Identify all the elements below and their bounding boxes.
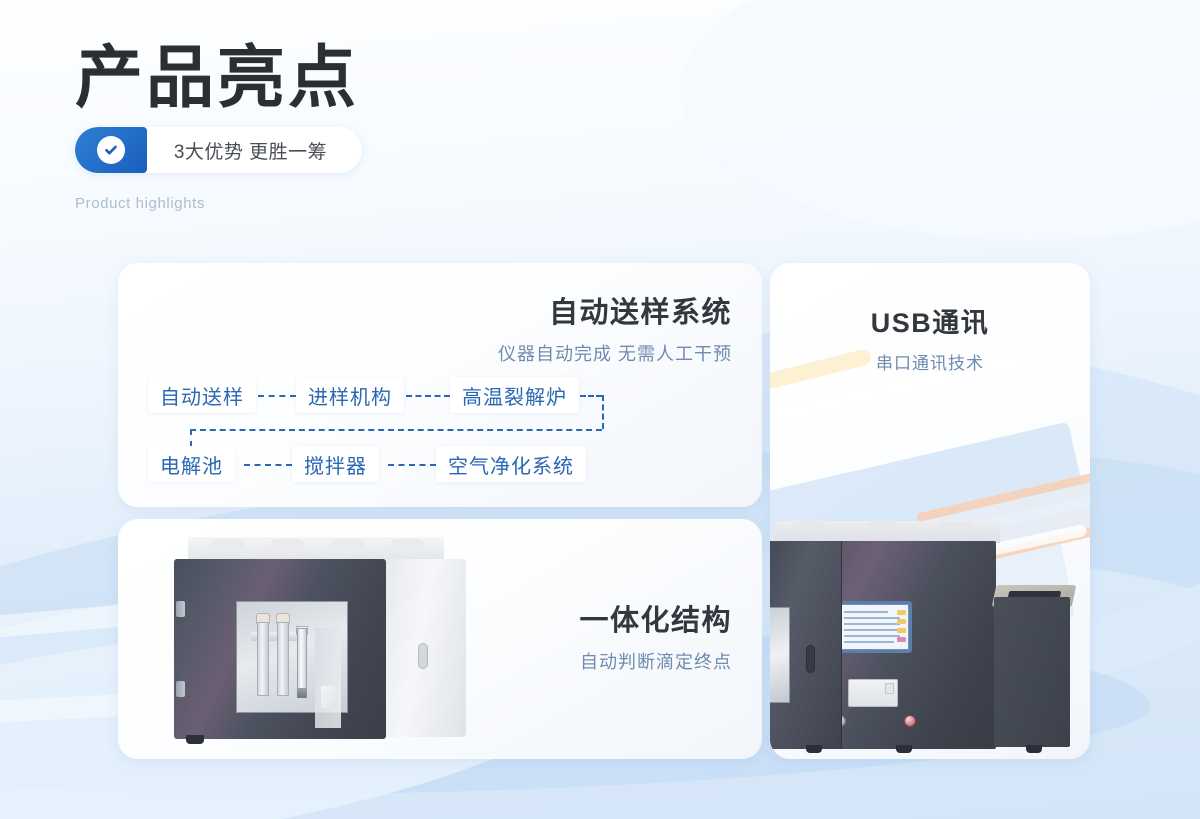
- instrument-knob-2: [270, 539, 304, 548]
- background-wave-top-right: [680, 0, 1200, 240]
- flow-connector-6: [190, 429, 192, 447]
- card-auto-sampler: 自动送样系统 仪器自动完成 无需人工干预 自动送样 进样机构 高温裂解炉 电解池…: [118, 263, 762, 507]
- instrument-hinge-bottom: [176, 681, 185, 697]
- flow-tag-injection: 进样机构: [296, 377, 404, 413]
- usb-title: USB通讯: [770, 301, 1090, 340]
- flow-connector-7: [244, 464, 292, 466]
- flow-connector-3: [580, 395, 602, 397]
- card-usb-communication: USB通讯 串口通讯技术: [770, 263, 1090, 759]
- usb-heading: USB通讯 串口通讯技术: [770, 301, 1090, 374]
- instrument-hinge-top: [176, 601, 185, 617]
- instrument-knob-4: [390, 539, 424, 548]
- check-circle-icon: [97, 136, 125, 164]
- flow-connector-2: [406, 395, 450, 397]
- lcd-data-row: [844, 641, 894, 643]
- auto-sampler-title: 自动送样系统: [498, 289, 732, 331]
- lcd-data-row: [844, 617, 900, 619]
- flow-connector-8: [388, 464, 436, 466]
- process-flow-diagram: 自动送样 进样机构 高温裂解炉 电解池 搅拌器 空气净化系统: [148, 377, 732, 482]
- panel-left-section: [770, 541, 842, 749]
- lcd-data-row: [844, 629, 900, 631]
- lcd-button-2: [897, 619, 906, 624]
- panel-foot-3: [1026, 745, 1042, 753]
- page-subtitle-english: Product highlights: [75, 195, 362, 212]
- panel-left-window: [770, 607, 790, 703]
- auto-sampler-subtitle: 仪器自动完成 无需人工干预: [498, 340, 732, 366]
- auto-sampler-heading: 自动送样系统 仪器自动完成 无需人工干预: [498, 289, 732, 366]
- integrated-subtitle: 自动判断滴定终点: [579, 648, 732, 674]
- panel-knob-1: [792, 522, 824, 530]
- card-integrated-structure: 一体化结构 自动判断滴定终点: [118, 519, 762, 759]
- panel-button-red: [904, 715, 916, 727]
- integrated-title: 一体化结构: [579, 597, 732, 639]
- printer-panel: [848, 679, 898, 707]
- badge-icon-container: [75, 127, 147, 173]
- instrument-main-body: [174, 559, 386, 739]
- lcd-display: [839, 604, 909, 650]
- sampler-side-module: [994, 597, 1070, 747]
- inner-panel: [315, 628, 341, 728]
- syringe-1: [257, 622, 269, 696]
- flowmeter-valve: [297, 688, 307, 698]
- flow-connector-1: [258, 395, 296, 397]
- lcd-data-row: [844, 635, 900, 637]
- page-header: 产品亮点 3大优势 更胜一筹 Product highlights: [75, 42, 362, 212]
- panel-foot-1: [806, 745, 822, 753]
- sample-cup: [321, 686, 337, 708]
- flow-tag-stirrer: 搅拌器: [292, 446, 379, 482]
- flow-tag-auto-feed: 自动送样: [148, 377, 256, 413]
- page-title: 产品亮点: [75, 42, 362, 115]
- flow-tag-air-purifier: 空气净化系统: [436, 446, 586, 482]
- lcd-touchscreen: [836, 601, 912, 653]
- lcd-button-1: [897, 610, 906, 615]
- lcd-data-row: [844, 611, 888, 613]
- flow-tag-pyrolysis: 高温裂解炉: [450, 377, 579, 413]
- usb-subtitle: 串口通讯技术: [770, 349, 1090, 374]
- flowmeter-tube: [297, 628, 307, 690]
- flow-connector-5: [190, 429, 602, 431]
- instrument-control-panel-photo: [770, 521, 1090, 759]
- instrument-door-handle: [418, 643, 428, 669]
- instrument-knob-3: [330, 539, 364, 548]
- panel-knob-3: [940, 522, 972, 530]
- instrument-foot-left: [186, 735, 204, 744]
- instrument-viewing-window: [236, 601, 348, 713]
- lcd-button-4: [897, 637, 906, 642]
- flow-tag-electrolysis: 电解池: [148, 446, 235, 482]
- lcd-data-row: [844, 623, 900, 625]
- lcd-button-3: [897, 628, 906, 633]
- badge-label: 3大优势 更胜一筹: [147, 137, 362, 164]
- flow-connector-4: [602, 395, 604, 429]
- panel-knob-2: [866, 522, 898, 530]
- panel-door-handle: [806, 645, 815, 673]
- advantage-badge: 3大优势 更胜一筹: [75, 127, 362, 173]
- syringe-2: [277, 622, 289, 696]
- integrated-heading: 一体化结构 自动判断滴定终点: [579, 597, 732, 674]
- instrument-knob-1: [210, 539, 244, 548]
- panel-foot-2: [896, 745, 912, 753]
- instrument-front-photo: [166, 537, 466, 741]
